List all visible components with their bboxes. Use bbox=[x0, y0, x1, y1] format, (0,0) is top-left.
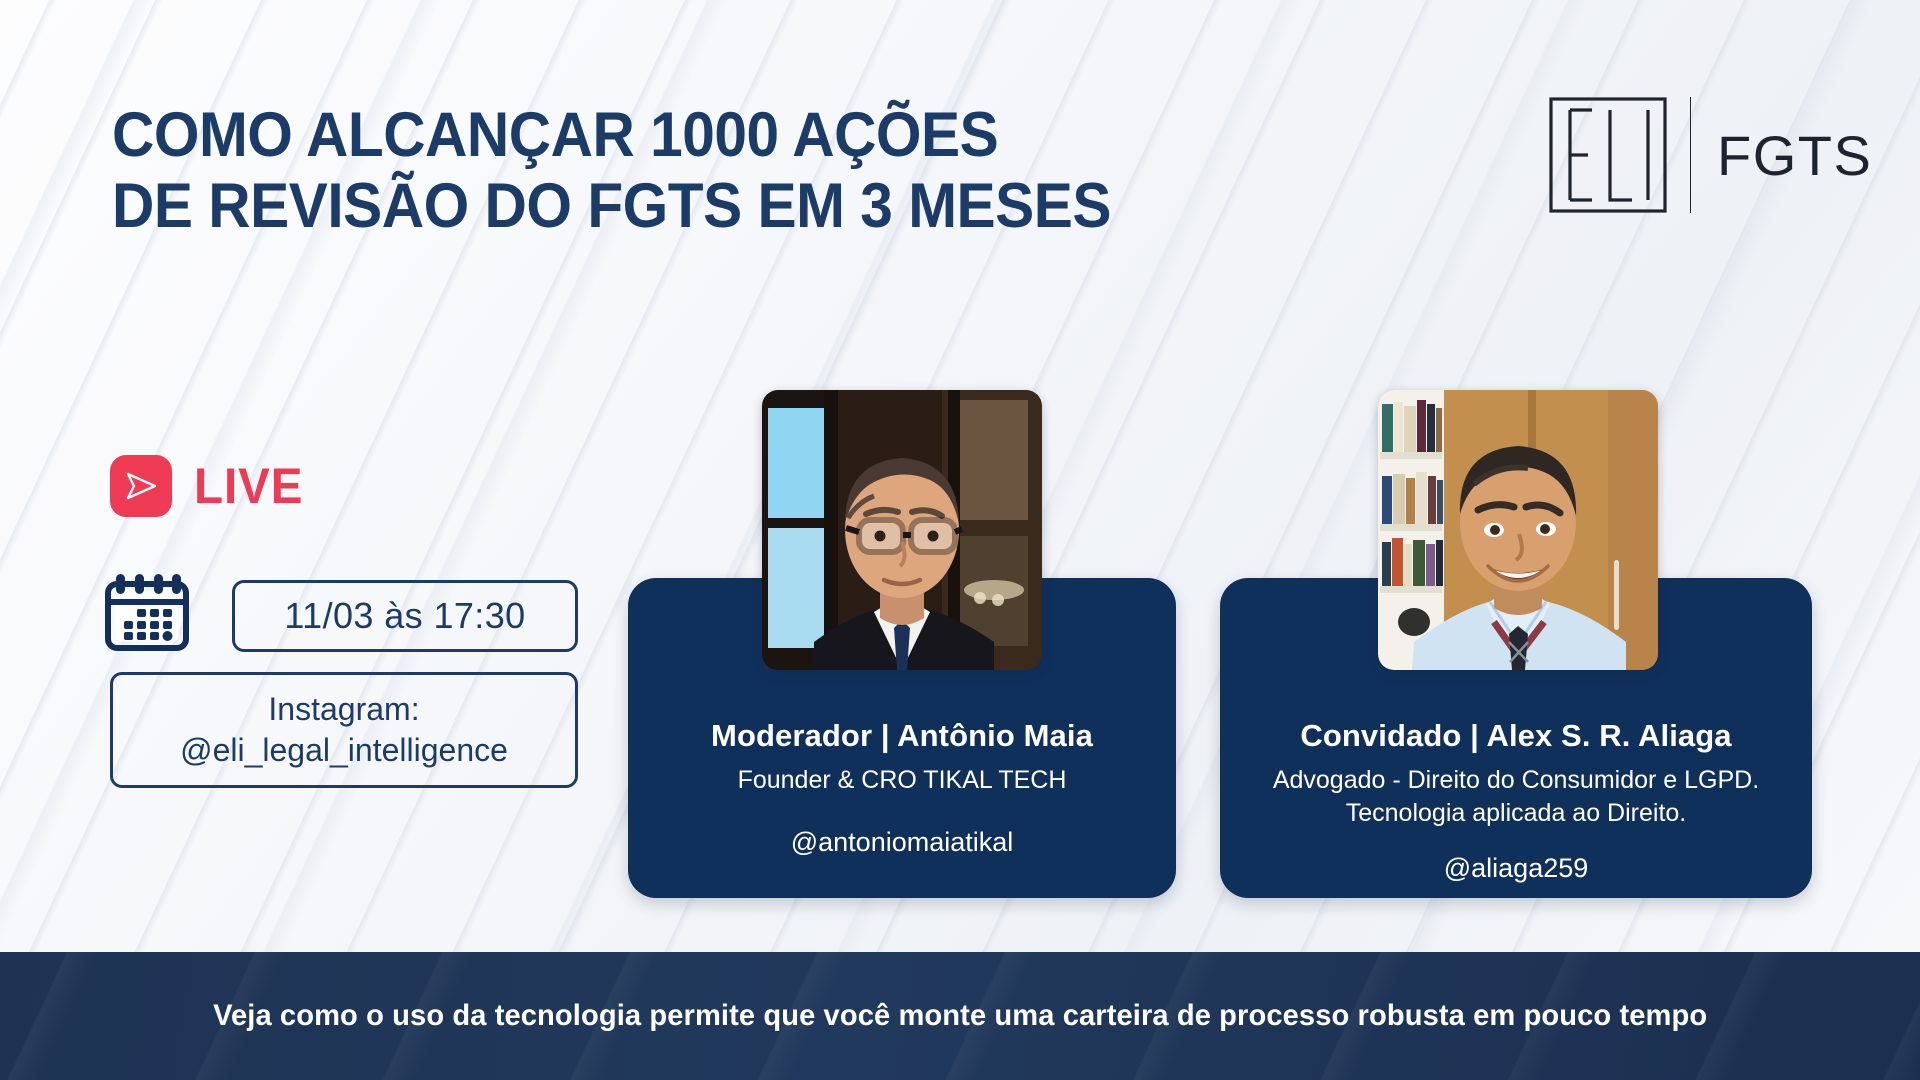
speaker-name: Convidado | Alex S. R. Aliaga bbox=[1300, 718, 1731, 754]
speaker-card-body: Moderador | Antônio Maia Founder & CRO T… bbox=[628, 718, 1176, 898]
logo-divider bbox=[1690, 97, 1691, 213]
event-datetime-box: 11/03 às 17:30 bbox=[232, 580, 578, 652]
event-datetime-label: 11/03 às 17:30 bbox=[284, 595, 525, 637]
instagram-box[interactable]: Instagram: @eli_legal_intelligence bbox=[110, 672, 578, 788]
instagram-platform-label: Instagram: bbox=[268, 689, 419, 730]
speaker-name: Moderador | Antônio Maia bbox=[711, 718, 1093, 754]
live-label: LIVE bbox=[194, 457, 303, 515]
calendar-icon bbox=[104, 572, 190, 656]
speaker-card-body: Convidado | Alex S. R. Aliaga Advogado -… bbox=[1220, 718, 1812, 898]
footer-banner-text: Veja como o uso da tecnologia permite qu… bbox=[213, 999, 1707, 1033]
speaker-handle: @antoniomaiatikal bbox=[791, 827, 1014, 858]
live-badge-group: LIVE bbox=[110, 455, 309, 517]
eli-box-logo-icon bbox=[1548, 96, 1668, 214]
promo-banner-stage: COMO ALCANÇAR 1000 AÇÕES DE REVISÃO DO F… bbox=[0, 0, 1920, 1080]
speaker-photo-moderator bbox=[762, 390, 1042, 670]
speaker-role: Advogado - Direito do Consumidor e LGPD.… bbox=[1238, 764, 1794, 829]
logo-wordmark: FGTS bbox=[1717, 123, 1872, 188]
speaker-handle: @aliaga259 bbox=[1444, 853, 1589, 884]
speaker-role: Founder & CRO TIKAL TECH bbox=[738, 764, 1067, 797]
live-send-arrow-icon bbox=[110, 455, 172, 517]
instagram-handle: @eli_legal_intelligence bbox=[180, 730, 508, 771]
page-title: COMO ALCANÇAR 1000 AÇÕES DE REVISÃO DO F… bbox=[112, 100, 1340, 242]
speaker-photo-guest bbox=[1378, 390, 1658, 670]
brand-logo: FGTS bbox=[1548, 96, 1872, 214]
footer-banner: Veja como o uso da tecnologia permite qu… bbox=[0, 952, 1920, 1080]
